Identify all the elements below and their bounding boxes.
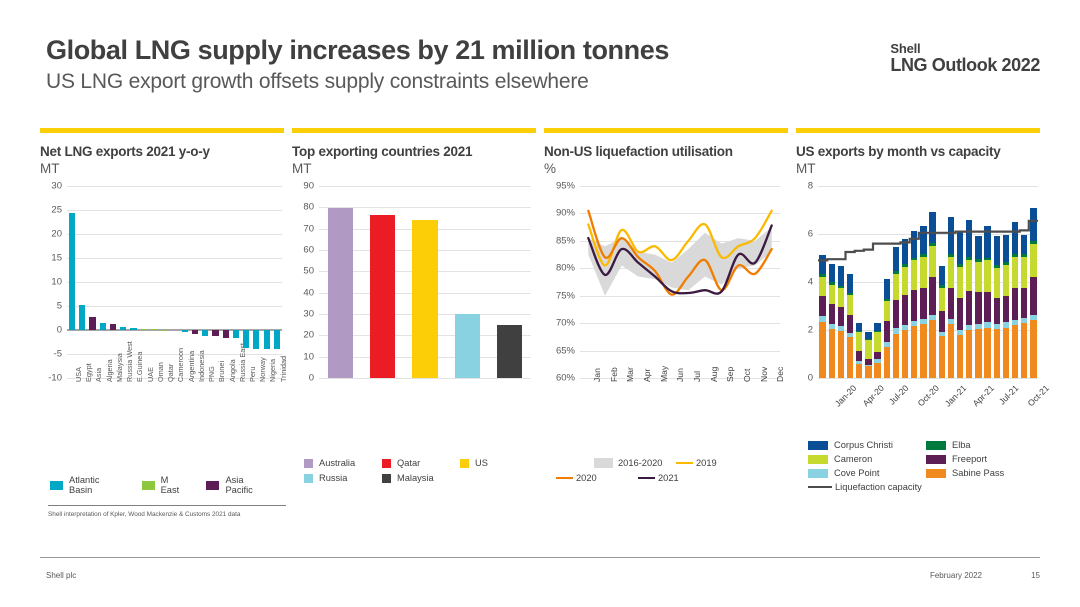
legend-swatch (142, 481, 155, 490)
x-axis-tick-label: Indonesia (197, 350, 206, 382)
y-axis-tick-label: 0 (57, 325, 62, 336)
legend-item[interactable]: Qatar (382, 458, 460, 468)
capacity-line-svg (818, 186, 1038, 378)
y-axis-tick-label: 80% (556, 263, 575, 274)
x-axis-tick-label: Norway (258, 357, 267, 382)
legend-item[interactable]: Liquefaction capacity (808, 482, 926, 492)
legend-item[interactable]: Sabine Pass (926, 468, 1044, 478)
legend-item[interactable]: 2021 (638, 473, 720, 483)
legend-swatch (304, 474, 313, 483)
gridline (319, 378, 531, 379)
legend-swatch (594, 458, 613, 468)
chart-panels: Net LNG exports 2021 y-o-y MT 3025201510… (40, 128, 1040, 528)
x-axis-tick-label: E.Guinea (135, 352, 144, 382)
y-axis-tick-label: 10 (51, 277, 62, 288)
legend-swatch (382, 474, 391, 483)
legend-row: Atlantic BasinM EastAsia Pacific (50, 475, 290, 495)
x-axis-tick-label: Algeria (105, 359, 114, 382)
legend-swatch (926, 441, 946, 450)
shell-brand-logo: Shell LNG Outlook 2022 (890, 42, 1040, 76)
y-axis-tick-label: 8 (808, 181, 813, 192)
x-axis-tick-label: Jul-21 (997, 383, 1021, 407)
chart-legend: Atlantic BasinM EastAsia Pacific (50, 475, 290, 500)
legend-line-swatch (676, 462, 693, 465)
legend-label: Atlantic Basin (69, 475, 124, 495)
gridline (67, 210, 282, 211)
panel-unit: % (544, 161, 788, 177)
legend-label: M East (161, 475, 189, 495)
x-axis-tick-label: Malaysia (115, 353, 124, 382)
y-axis-tick-label: 30 (51, 181, 62, 192)
x-axis-tick-label: Argentina (187, 351, 196, 382)
x-axis-tick-label: UAE (146, 367, 155, 382)
legend-label: 2020 (576, 473, 597, 483)
y-axis-tick-label: 30 (303, 309, 314, 320)
footer-page-number: 15 (1031, 571, 1040, 580)
bar (264, 330, 270, 349)
x-axis-tick-label: Oman (156, 362, 165, 382)
chart-us-exports-by-month: 86420Jan-20Apr-20Jul-20Oct-20Jan-21Apr-2… (818, 186, 1038, 378)
panel-title: US exports by month vs capacity (796, 144, 1040, 160)
chart-non-us-liquefaction: 95%90%85%80%75%70%65%60%JanFebMarAprMayJ… (580, 186, 780, 378)
chart-top-exporting-countries: 9080706050403020100 (319, 186, 531, 378)
y-axis-tick-label: 90% (556, 208, 575, 219)
x-axis-tick-label: Aug (709, 367, 719, 382)
x-axis-tick-label: Jul (692, 371, 702, 382)
legend-swatch (808, 455, 828, 464)
legend-swatch (808, 469, 828, 478)
bar (370, 215, 395, 378)
x-axis-tick-label: Angola (228, 359, 237, 382)
gridline (67, 234, 282, 235)
header: Global LNG supply increases by 21 millio… (46, 36, 669, 94)
legend-label: Malaysia (397, 473, 434, 483)
legend-label: Corpus Christi (834, 440, 893, 450)
y-axis-tick-label: -5 (54, 349, 62, 360)
legend-label: 2019 (696, 458, 717, 468)
chart-net-lng-exports: 302520151050-5-10USAEgyptAsiaAlgeriaMala… (67, 186, 282, 378)
bar (141, 329, 147, 330)
panel-net-lng-exports: Net LNG exports 2021 y-o-y MT 3025201510… (40, 128, 284, 528)
x-axis-tick-label: Jun (675, 368, 685, 382)
legend-row: Liquefaction capacity (808, 482, 1053, 492)
bar (274, 330, 280, 349)
source-divider (48, 505, 286, 506)
gridline (818, 378, 1038, 379)
legend-item[interactable]: 2016-2020 (594, 458, 676, 468)
legend-item[interactable]: Atlantic Basin (50, 475, 124, 495)
bar (202, 330, 208, 336)
legend-line-swatch (808, 486, 832, 488)
bar (497, 325, 522, 378)
bar (412, 220, 437, 378)
bar (161, 330, 167, 331)
legend-item[interactable]: Russia (304, 473, 382, 483)
y-axis-tick-label: 0 (309, 373, 314, 384)
bar (151, 329, 157, 330)
source-note: Shell interpretation of Kpler, Wood Mack… (48, 511, 240, 518)
y-axis-tick-label: 50 (303, 266, 314, 277)
bar (110, 324, 116, 330)
x-axis-tick-label: Jan-21 (943, 383, 969, 409)
gridline (67, 282, 282, 283)
x-axis-tick-label: Cameroon (176, 348, 185, 382)
x-axis-tick-label: Brunei (217, 361, 226, 382)
y-axis-tick-label: 70 (303, 223, 314, 234)
legend-label: Freeport (952, 454, 987, 464)
legend-label: 2016-2020 (618, 458, 662, 468)
liquefaction-capacity-line (818, 221, 1038, 261)
x-axis-tick-label: Trinidad (279, 356, 288, 382)
x-axis-tick-label: Jul-20 (887, 383, 911, 407)
brand-line-1: Shell (890, 42, 1040, 55)
y-axis-tick-label: 70% (556, 318, 575, 329)
x-axis-tick-label: Sep (725, 367, 735, 382)
legend-item[interactable]: Freeport (926, 454, 1044, 464)
x-axis-tick-label: USA (74, 367, 83, 382)
bar (120, 327, 126, 330)
legend-label: 2021 (658, 473, 679, 483)
y-axis-tick-label: 95% (556, 181, 575, 192)
legend-item[interactable]: M East (142, 475, 189, 495)
legend-item[interactable]: Corpus Christi (808, 440, 926, 450)
panel-unit: MT (40, 161, 284, 177)
y-axis-tick-label: 20 (51, 229, 62, 240)
gridline (67, 354, 282, 355)
legend-swatch (50, 481, 63, 490)
x-axis-tick-label: Qatar (166, 364, 175, 382)
panel-unit: MT (292, 161, 536, 177)
bar (69, 213, 75, 330)
legend-label: Elba (952, 440, 971, 450)
legend-swatch (206, 481, 219, 490)
bar (89, 317, 95, 330)
bar (182, 330, 188, 332)
legend-label: US (475, 458, 488, 468)
range-band-2016-2020 (588, 227, 771, 296)
x-axis-tick-label: Dec (775, 367, 785, 382)
legend-row: CameronFreeport (808, 454, 1053, 464)
chart-legend: 2016-2020201920202021 (556, 458, 796, 488)
legend-label: Russia (319, 473, 347, 483)
legend-item[interactable]: Malaysia (382, 473, 460, 483)
page-title: Global LNG supply increases by 21 millio… (46, 36, 669, 65)
legend-item[interactable]: Australia (304, 458, 382, 468)
legend-row: AustraliaQatarUS (304, 458, 544, 468)
y-axis-tick-label: 80 (303, 202, 314, 213)
gridline (319, 186, 531, 187)
page-subtitle: US LNG export growth offsets supply cons… (46, 70, 669, 94)
x-axis-tick-label: Oct-21 (1025, 383, 1050, 408)
bar (171, 330, 177, 331)
legend-item[interactable]: 2020 (556, 473, 638, 483)
y-axis-tick-label: 6 (808, 229, 813, 240)
panel-title: Net LNG exports 2021 y-o-y (40, 144, 284, 160)
legend-row: Corpus ChristiElba (808, 440, 1053, 450)
panel-top-exporting-countries: Top exporting countries 2021 MT 90807060… (292, 128, 536, 528)
panel-non-us-liquefaction: Non-US liquefaction utilisation % 95%90%… (544, 128, 788, 528)
y-axis-tick-label: 60% (556, 373, 575, 384)
legend-swatch (304, 459, 313, 468)
y-axis-tick-label: 15 (51, 253, 62, 264)
footer-date: February 2022 (930, 571, 982, 580)
gridline (67, 258, 282, 259)
legend-swatch (808, 441, 828, 450)
gridline (67, 306, 282, 307)
legend-row: RussiaMalaysia (304, 473, 544, 483)
chart-legend: AustraliaQatarUSRussiaMalaysia (304, 458, 544, 488)
legend-label: Sabine Pass (952, 468, 1004, 478)
x-axis-tick-label: Peru (248, 367, 257, 382)
x-axis-tick-label: Apr (642, 369, 652, 382)
legend-label: Qatar (397, 458, 420, 468)
legend-item[interactable]: Cameron (808, 454, 926, 464)
legend-label: Asia Pacific (225, 475, 272, 495)
bar (233, 330, 239, 338)
legend-label: Cove Point (834, 468, 879, 478)
y-axis-tick-label: 20 (303, 330, 314, 341)
bar (328, 208, 353, 378)
legend-item[interactable]: Asia Pacific (206, 475, 272, 495)
legend-line-swatch (638, 477, 655, 480)
legend-row: 20202021 (556, 473, 796, 483)
y-axis-tick-label: 5 (57, 301, 62, 312)
y-axis-tick-label: 40 (303, 287, 314, 298)
bar (100, 323, 106, 330)
panel-title: Top exporting countries 2021 (292, 144, 536, 160)
y-axis-tick-label: 90 (303, 181, 314, 192)
y-axis-tick-label: 2 (808, 325, 813, 336)
x-axis-tick-label: Oct-20 (915, 383, 940, 408)
legend-row: Cove PointSabine Pass (808, 468, 1053, 478)
bar (212, 330, 218, 336)
bar (192, 330, 198, 334)
brand-line-2: LNG Outlook 2022 (890, 56, 1040, 76)
bar (243, 330, 249, 348)
x-axis-tick-label: Jan (592, 368, 602, 382)
x-axis-tick-label: Asia (94, 368, 103, 382)
bar (79, 305, 85, 330)
y-axis-tick-label: 10 (303, 351, 314, 362)
x-axis-tick-label: PNG (207, 366, 216, 382)
legend-swatch (926, 469, 946, 478)
legend-label: Australia (319, 458, 355, 468)
gridline (67, 186, 282, 187)
legend-item[interactable]: Elba (926, 440, 1044, 450)
y-axis-tick-label: -10 (48, 373, 62, 384)
legend-swatch (382, 459, 391, 468)
legend-item[interactable]: Cove Point (808, 468, 926, 478)
x-axis-tick-label: Mar (625, 367, 635, 382)
legend-label: Liquefaction capacity (835, 482, 922, 492)
panel-accent-rule (40, 128, 284, 133)
legend-swatch (926, 455, 946, 464)
legend-swatch (460, 459, 469, 468)
x-axis-tick-label: Apr-20 (860, 383, 885, 408)
x-axis-tick-label: Oct (742, 369, 752, 382)
x-axis-tick-label: Nov (759, 367, 769, 382)
y-axis-tick-label: 25 (51, 205, 62, 216)
panel-us-exports-by-month: US exports by month vs capacity MT 86420… (796, 128, 1040, 528)
x-axis-tick-label: Jan-20 (833, 383, 859, 409)
panel-accent-rule (796, 128, 1040, 133)
x-axis-tick-label: Russia West (125, 341, 134, 382)
y-axis-tick-label: 4 (808, 277, 813, 288)
bar (223, 330, 229, 338)
x-axis-tick-label: May (659, 366, 669, 382)
panel-title: Non-US liquefaction utilisation (544, 144, 788, 160)
x-axis-tick-label: Russia East (238, 343, 247, 382)
panel-unit: MT (796, 161, 1040, 177)
legend-item[interactable]: US (460, 458, 538, 468)
x-axis-tick-label: Feb (609, 367, 619, 382)
y-axis-tick-label: 65% (556, 345, 575, 356)
bar (253, 330, 259, 349)
y-axis-tick-label: 0 (808, 373, 813, 384)
x-axis-tick-label: Apr-21 (970, 383, 995, 408)
panel-accent-rule (292, 128, 536, 133)
bar (130, 328, 136, 330)
legend-label: Cameron (834, 454, 872, 464)
legend-line-swatch (556, 477, 573, 480)
x-axis-tick-label: Nigeria (268, 359, 277, 382)
slide: Global LNG supply increases by 21 millio… (0, 0, 1080, 607)
x-axis-tick-label: Egypt (84, 363, 93, 382)
y-axis-tick-label: 85% (556, 235, 575, 246)
y-axis-tick-label: 60 (303, 245, 314, 256)
footer-company: Shell plc (46, 571, 76, 580)
y-axis-tick-label: 75% (556, 290, 575, 301)
line-chart-svg (580, 186, 780, 378)
legend-row: 2016-20202019 (594, 458, 796, 468)
chart-legend: Corpus ChristiElbaCameronFreeportCove Po… (808, 440, 1053, 496)
panel-accent-rule (544, 128, 788, 133)
bar (455, 314, 480, 378)
legend-item[interactable]: 2019 (676, 458, 758, 468)
footer-divider (40, 557, 1040, 558)
